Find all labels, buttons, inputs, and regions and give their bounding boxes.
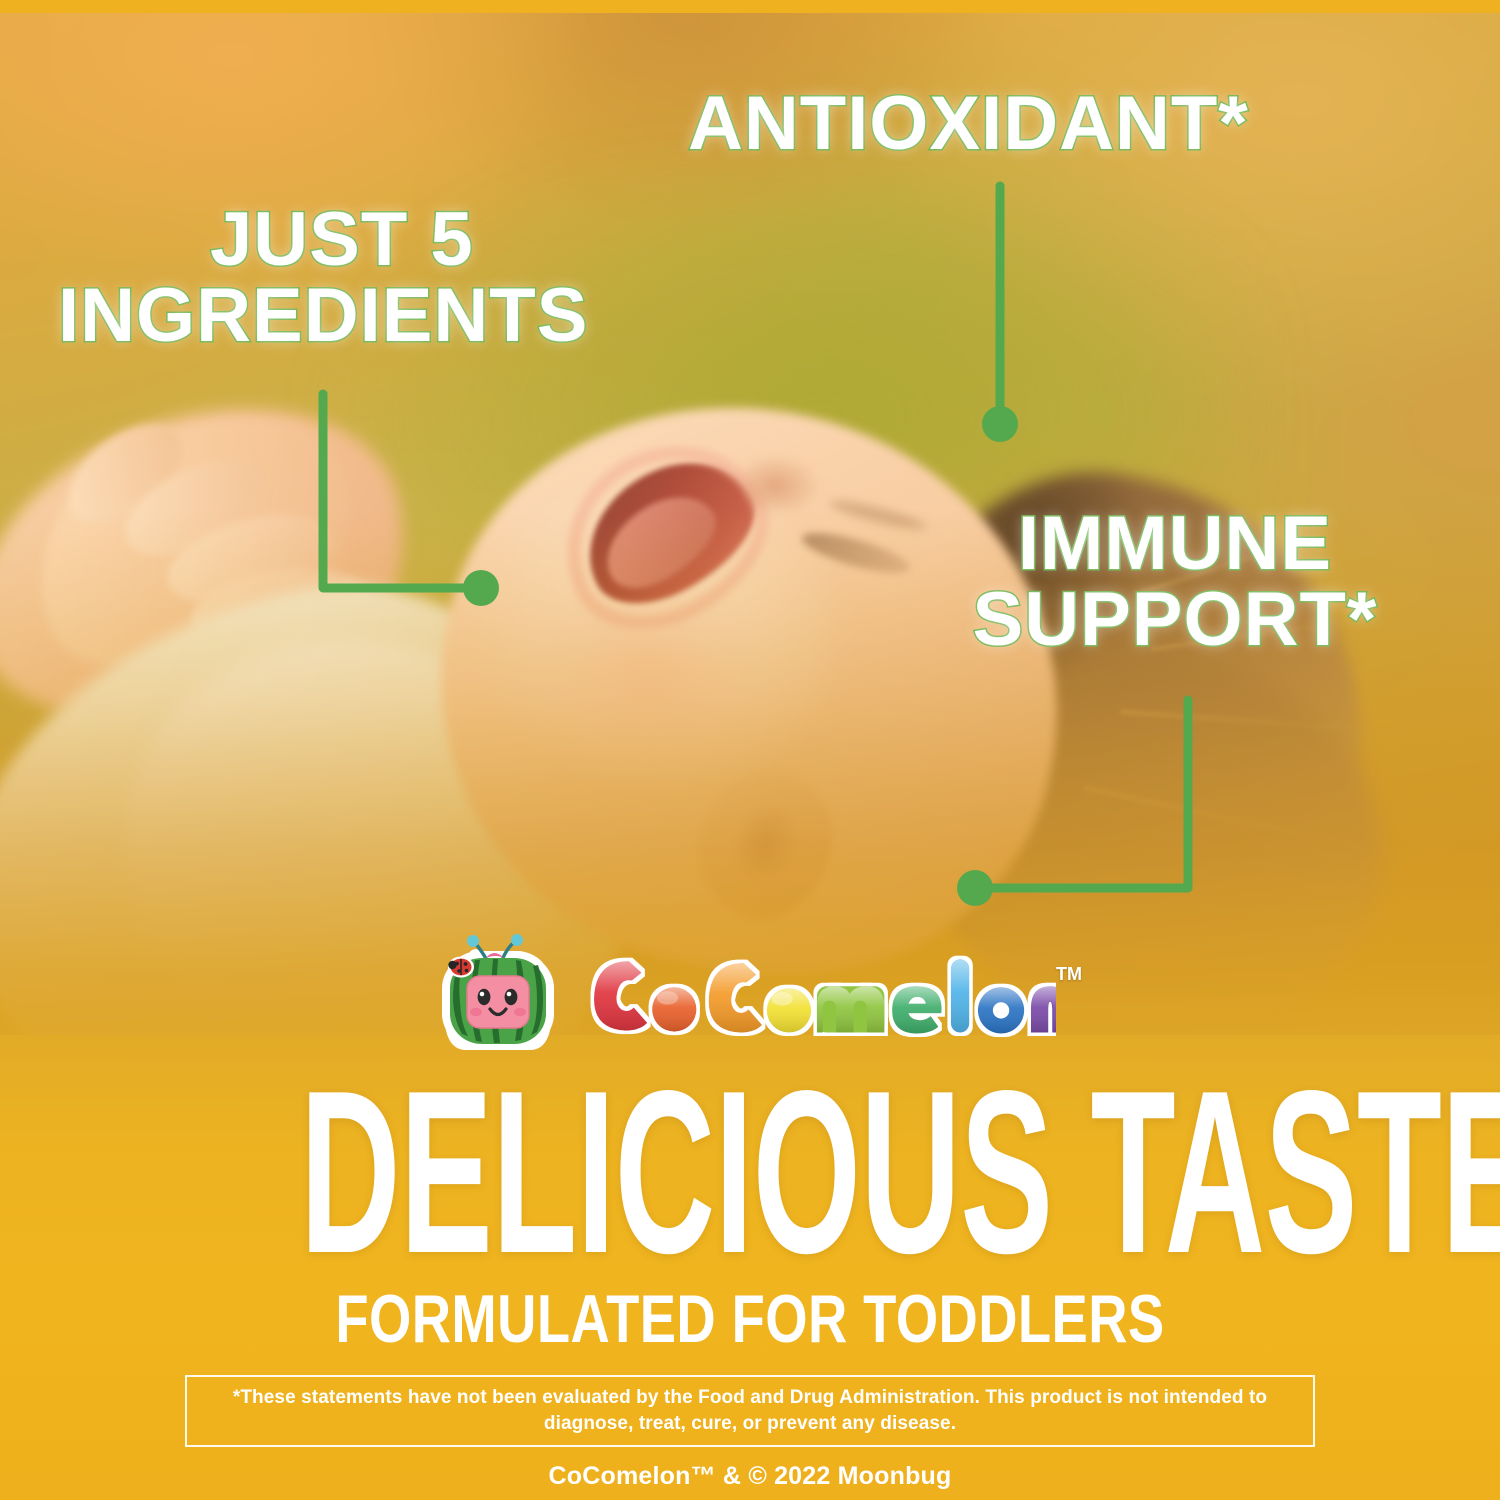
callout-immune-line-2: SUPPORT* <box>930 582 1420 658</box>
ladybug-icon <box>448 957 474 978</box>
disclaimer-box: *These statements have not been evaluate… <box>185 1375 1315 1447</box>
callout-ingredients-line-2: INGREDIENTS <box>58 278 588 354</box>
callout-just-5-ingredients: JUST 5 INGREDIENTS <box>58 202 588 354</box>
callout-immune-support: IMMUNE SUPPORT* <box>930 506 1420 658</box>
logo-trademark: TM <box>1056 964 1082 985</box>
cocomelon-logo: TM <box>436 928 1068 1060</box>
page-title: DELICIOUS TASTE! <box>300 1078 1200 1268</box>
callout-ingredients-line-1: JUST 5 <box>58 202 588 278</box>
watermelon-character-icon <box>436 932 560 1056</box>
callout-antioxidant-line-1: ANTIOXIDANT* <box>688 86 1249 162</box>
disclaimer-text: *These statements have not been evaluate… <box>215 1385 1285 1437</box>
top-gold-bar <box>0 0 1500 13</box>
copyright-notice: CoComelon™ & © 2022 Moonbug <box>0 1462 1500 1491</box>
cocomelon-wordmark: TM <box>574 932 1056 1056</box>
page-subtitle: FORMULATED FOR TODDLERS <box>150 1285 1350 1353</box>
ad-creative-canvas: ANTIOXIDANT* JUST 5 INGREDIENTS IMMUNE S… <box>0 0 1500 1500</box>
callout-antioxidant: ANTIOXIDANT* <box>688 86 1249 162</box>
callout-immune-line-1: IMMUNE <box>930 506 1420 582</box>
